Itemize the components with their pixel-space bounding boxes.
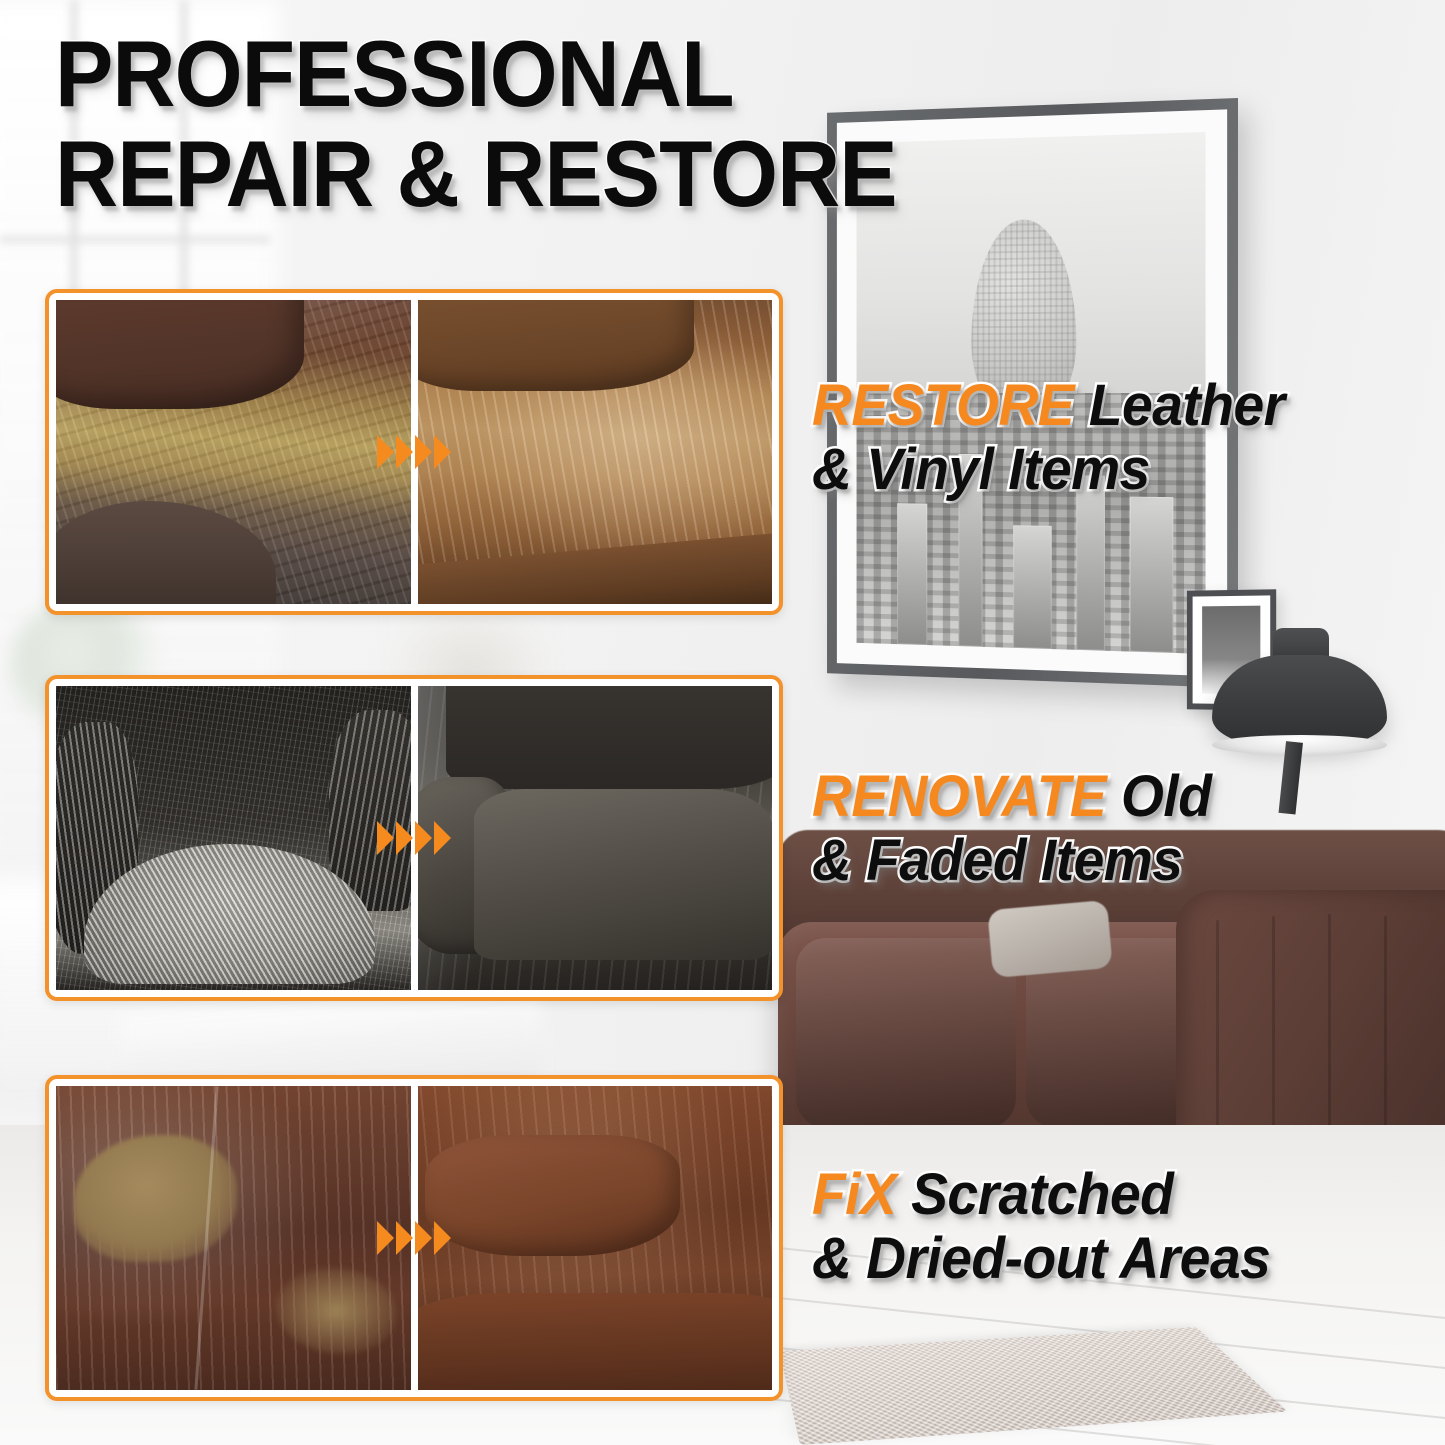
artwork-tower <box>897 503 927 645</box>
feature-line-2: & Faded Items <box>812 829 1420 893</box>
headline-line-2: REPAIR & RESTORE <box>55 126 1152 222</box>
feature-line-2: & Vinyl Items <box>812 438 1420 502</box>
sofa-crease <box>1328 914 1331 1134</box>
product-infographic: PROFESSIONAL REPAIR & RESTORE <box>0 0 1445 1445</box>
sofa-crease <box>1216 920 1219 1130</box>
comparison-panel-renovate[interactable] <box>45 675 783 1001</box>
sofa-backrest-shape <box>418 300 695 391</box>
feature-keyword: FiX <box>812 1162 896 1227</box>
recliner-backrest <box>446 686 772 789</box>
comparison-panel-restore[interactable] <box>45 289 783 615</box>
comparison-panel-fix[interactable] <box>45 1075 783 1401</box>
feature-keyword: RESTORE <box>812 373 1074 438</box>
sofa-crease <box>1272 916 1275 1131</box>
feature-line-1: RESTORE Leather <box>812 374 1420 438</box>
sofa-backrest-shape <box>56 300 304 409</box>
feature-rest: Scratched <box>896 1162 1173 1227</box>
after-image-scratched-sofa <box>418 1086 773 1390</box>
recliner-seat <box>474 789 772 959</box>
feature-rest: Leather <box>1074 373 1285 438</box>
before-image-leather-sofa <box>56 300 411 604</box>
sofa-cushion <box>796 938 1016 1128</box>
feature-callout-fix: FiX Scratched & Dried-out Areas <box>812 1163 1445 1291</box>
before-after-row <box>56 686 772 990</box>
feature-keyword: RENOVATE <box>812 764 1106 829</box>
feature-callout-restore: RESTORE Leather & Vinyl Items <box>812 374 1445 502</box>
artwork-tower <box>1130 496 1173 652</box>
feature-rest: Old <box>1106 764 1211 829</box>
feature-callout-renovate: RENOVATE Old & Faded Items <box>812 765 1445 893</box>
throw-pillow <box>987 900 1112 978</box>
artwork-tower <box>1013 526 1051 650</box>
headline-line-1: PROFESSIONAL <box>55 26 1152 122</box>
headline: PROFESSIONAL REPAIR & RESTORE <box>55 26 1235 226</box>
before-image-recliner <box>56 686 411 990</box>
after-image-leather-sofa <box>418 300 773 604</box>
feature-line-1: FiX Scratched <box>812 1163 1420 1227</box>
feature-line-2: & Dried-out Areas <box>812 1227 1420 1291</box>
before-after-row <box>56 300 772 604</box>
sofa-cushion-shape <box>425 1135 680 1257</box>
before-after-row <box>56 1086 772 1390</box>
sofa-base-shape <box>418 1293 773 1390</box>
window-mullion <box>0 236 270 243</box>
after-image-recliner <box>418 686 773 990</box>
before-image-scratched-sofa <box>56 1086 411 1390</box>
sofa-crease <box>1384 916 1387 1132</box>
feature-line-1: RENOVATE Old <box>812 765 1420 829</box>
lamp-shade <box>1212 655 1387 747</box>
